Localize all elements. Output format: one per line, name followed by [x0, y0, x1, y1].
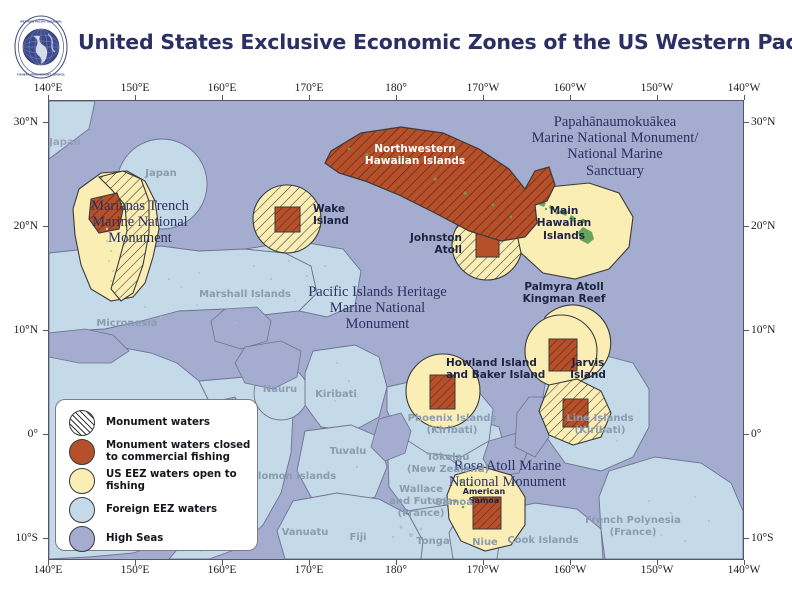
- lon-tick-label-170W: 170°W: [467, 82, 500, 94]
- swatch-monument-waters: [69, 410, 95, 436]
- lat-tick-label-0: 0°: [0, 428, 38, 440]
- swatch-high-seas: [69, 526, 95, 552]
- map-page: WESTERN PACIFIC REGIONAL FISHERY MANAGEM…: [0, 0, 792, 612]
- lon-tick-mark: [135, 95, 136, 100]
- legend-item-foreign-eez: Foreign EEZ waters: [56, 497, 257, 523]
- legend-label-us-eez: US EEZ waters open to fishing: [106, 469, 257, 493]
- lon-tick-mark: [309, 95, 310, 100]
- lon-tick-mark: [483, 95, 484, 100]
- lon-tick-label-160E: 160°E: [208, 564, 237, 576]
- lon-tick-label-140W: 140°W: [728, 564, 761, 576]
- lon-tick-mark: [483, 560, 484, 565]
- lat-tick-mark: [43, 538, 48, 539]
- legend-item-us-eez: US EEZ waters open to fishing: [56, 468, 257, 494]
- lon-tick-mark: [744, 95, 745, 100]
- lon-tick-mark: [396, 560, 397, 565]
- lon-tick-mark: [570, 560, 571, 565]
- lat-tick-mark: [43, 330, 48, 331]
- lon-tick-mark: [222, 560, 223, 565]
- lat-tick-label-30N: 30°N: [751, 116, 775, 128]
- lon-tick-mark: [309, 560, 310, 565]
- lon-tick-label-170E: 170°E: [295, 82, 324, 94]
- svg-text:WESTERN PACIFIC REGIONAL: WESTERN PACIFIC REGIONAL: [20, 20, 62, 24]
- lon-tick-label-150E: 150°E: [121, 564, 150, 576]
- legend-item-high-seas: High Seas: [56, 526, 257, 552]
- lon-tick-label-150E: 150°E: [121, 82, 150, 94]
- lon-tick-mark: [657, 95, 658, 100]
- lat-tick-mark: [744, 434, 749, 435]
- page-title: United States Exclusive Economic Zones o…: [78, 30, 778, 54]
- lon-tick-mark: [657, 560, 658, 565]
- lat-tick-mark: [744, 226, 749, 227]
- legend-item-monument-closed: Monument waters closedto commercial fish…: [56, 439, 257, 465]
- lat-tick-label-10S: 10°S: [0, 532, 38, 544]
- lat-tick-mark: [744, 122, 749, 123]
- lat-tick-label-20N: 20°N: [751, 220, 775, 232]
- lat-tick-mark: [744, 330, 749, 331]
- swatch-foreign-eez: [69, 497, 95, 523]
- lat-tick-label-10S: 10°S: [751, 532, 774, 544]
- lat-tick-label-30N: 30°N: [0, 116, 38, 128]
- lon-tick-label-170E: 170°E: [295, 564, 324, 576]
- lon-tick-mark: [570, 95, 571, 100]
- swatch-monument-closed: [69, 439, 95, 465]
- lon-tick-mark: [396, 95, 397, 100]
- lat-tick-mark: [43, 226, 48, 227]
- lon-tick-label-180: 180°: [385, 564, 407, 576]
- lat-tick-label-0: 0°: [751, 428, 761, 440]
- lon-tick-mark: [48, 95, 49, 100]
- map-legend: Monument waters Monument waters closedto…: [55, 399, 258, 551]
- legend-label-foreign-eez: Foreign EEZ waters: [106, 504, 217, 516]
- pacific-islands-regional-fishery-management-council-seal: WESTERN PACIFIC REGIONAL FISHERY MANAGEM…: [13, 14, 69, 80]
- lat-tick-label-10N: 10°N: [751, 324, 775, 336]
- lon-tick-label-160E: 160°E: [208, 82, 237, 94]
- lon-tick-label-170W: 170°W: [467, 564, 500, 576]
- lon-tick-label-140E: 140°E: [34, 564, 63, 576]
- lon-tick-label-150W: 150°W: [641, 564, 674, 576]
- lon-tick-mark: [48, 560, 49, 565]
- lon-tick-label-180: 180°: [385, 82, 407, 94]
- legend-label-high-seas: High Seas: [106, 533, 163, 545]
- legend-label-monument-closed: Monument waters closedto commercial fish…: [106, 440, 250, 464]
- legend-label-monument-waters: Monument waters: [106, 417, 210, 429]
- lon-tick-label-140W: 140°W: [728, 82, 761, 94]
- lat-tick-label-20N: 20°N: [0, 220, 38, 232]
- lon-tick-mark: [135, 560, 136, 565]
- lat-tick-mark: [43, 122, 48, 123]
- lon-tick-label-140E: 140°E: [34, 82, 63, 94]
- lon-tick-mark: [744, 560, 745, 565]
- page-header: WESTERN PACIFIC REGIONAL FISHERY MANAGEM…: [0, 0, 792, 90]
- lat-tick-mark: [744, 538, 749, 539]
- lon-tick-mark: [222, 95, 223, 100]
- lat-tick-label-10N: 10°N: [0, 324, 38, 336]
- lon-tick-label-160W: 160°W: [554, 82, 587, 94]
- legend-item-monument-waters: Monument waters: [56, 410, 257, 436]
- svg-text:FISHERY MANAGEMENT COUNCIL: FISHERY MANAGEMENT COUNCIL: [17, 73, 65, 77]
- lat-tick-mark: [43, 434, 48, 435]
- lon-tick-label-150W: 150°W: [641, 82, 674, 94]
- swatch-us-eez: [69, 468, 95, 494]
- lon-tick-label-160W: 160°W: [554, 564, 587, 576]
